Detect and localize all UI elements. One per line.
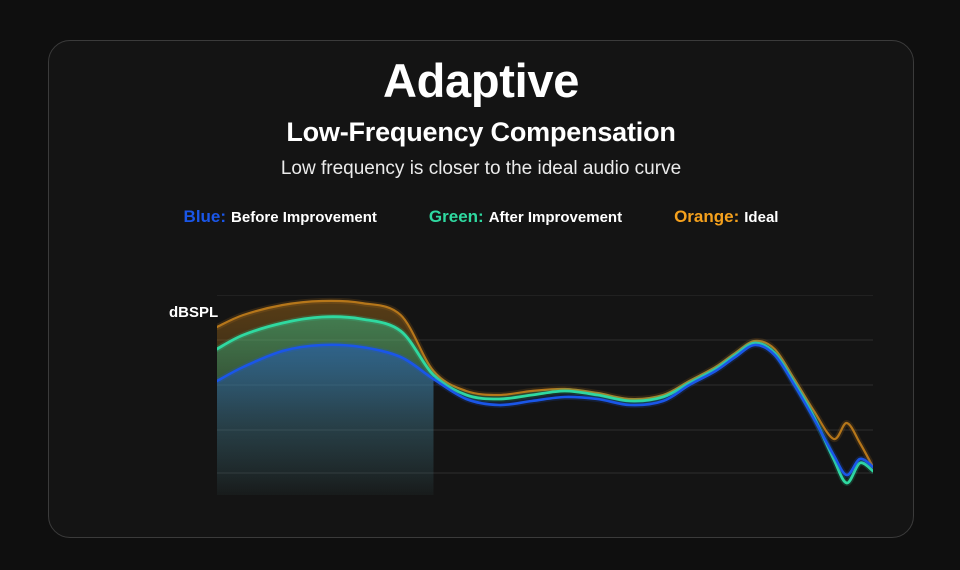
legend-label-green: After Improvement — [489, 209, 622, 226]
legend-key-green: Green: — [429, 207, 484, 227]
chart-area-fill — [217, 345, 873, 495]
legend-key-orange: Orange: — [674, 207, 739, 227]
legend-label-blue: Before Improvement — [231, 209, 377, 226]
page-title: Adaptive — [49, 53, 913, 109]
legend-item-orange: Orange: Ideal — [674, 207, 778, 227]
chart-area: dBSPL — [169, 295, 914, 495]
legend-key-blue: Blue: — [184, 207, 227, 227]
frequency-response-chart — [217, 295, 873, 495]
page-tagline: Low frequency is closer to the ideal aud… — [49, 156, 913, 182]
chart-y-axis-label: dBSPL — [169, 304, 218, 321]
screenshot-root: Adaptive Low-Frequency Compensation Low … — [0, 0, 960, 570]
legend-item-blue: Blue: Before Improvement — [184, 207, 377, 227]
legend-item-green: Green: After Improvement — [429, 207, 622, 227]
feature-card: Adaptive Low-Frequency Compensation Low … — [48, 40, 914, 538]
page-subtitle: Low-Frequency Compensation — [49, 115, 913, 149]
chart-legend: Blue: Before Improvement Green: After Im… — [49, 207, 913, 227]
legend-label-orange: Ideal — [744, 209, 778, 226]
